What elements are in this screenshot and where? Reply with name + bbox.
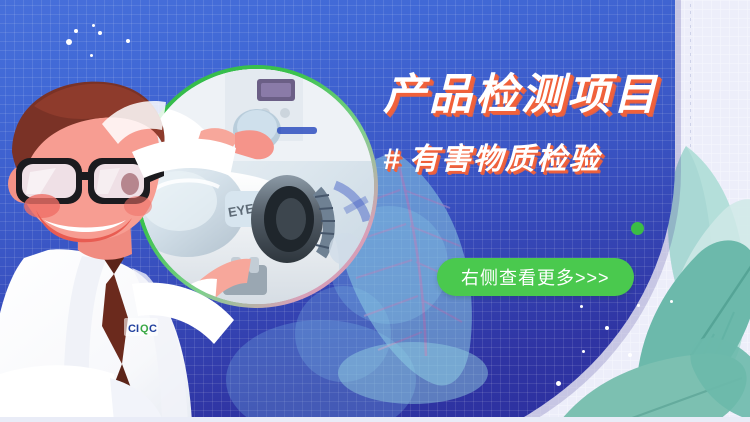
decor-dot [92, 24, 95, 27]
promo-banner: EYELA [0, 0, 750, 422]
view-more-button[interactable]: 右侧查看更多>>> [437, 258, 634, 296]
decor-dot [66, 39, 72, 45]
leaf-teal-corner-icon [690, 330, 750, 422]
hashtag-symbol: # [383, 143, 402, 176]
decor-dot [670, 300, 673, 303]
decor-dot [580, 305, 583, 308]
svg-text:C: C [149, 323, 157, 335]
headline-block: 产品检测项目 #有害物质检验 [383, 74, 683, 178]
decor-dot [98, 31, 102, 35]
decor-dot [628, 353, 632, 357]
subtitle-text: 有害物质检验 [409, 143, 601, 176]
decor-green-dot [631, 222, 644, 235]
decor-dot [74, 29, 78, 33]
scientist-character: CI Q C [0, 78, 267, 422]
bottom-edge-strip [0, 417, 750, 422]
decor-dot [582, 350, 585, 353]
decor-dot [605, 326, 609, 330]
decor-dot [126, 39, 130, 43]
decor-dot [90, 54, 93, 57]
decor-dot [637, 304, 640, 307]
decor-dot [556, 381, 561, 386]
svg-text:Q: Q [140, 323, 149, 335]
badge-label: CI [128, 323, 139, 335]
page-title: 产品检测项目 [383, 74, 683, 118]
page-subtitle: #有害物质检验 [383, 134, 683, 178]
